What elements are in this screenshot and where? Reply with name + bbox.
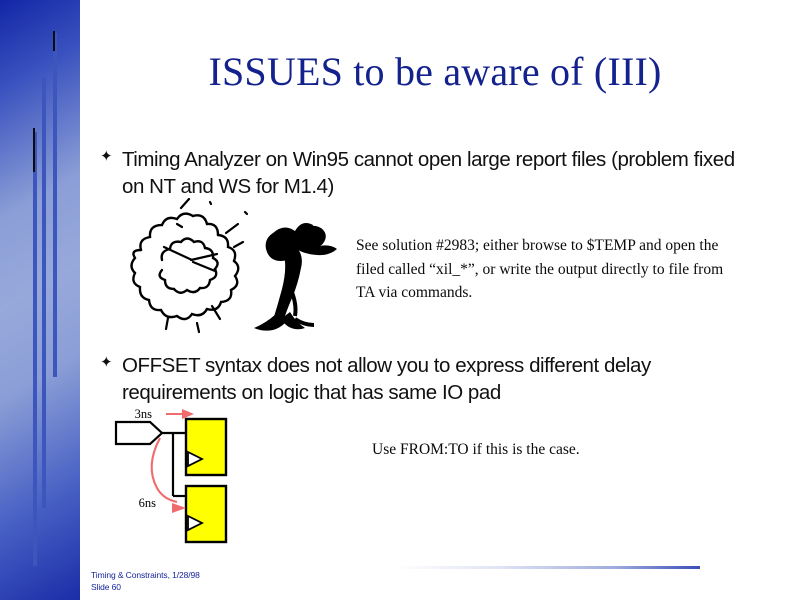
note-solution-2983: See solution #2983; either browse to $TE… (356, 234, 736, 305)
offset-delay-diagram: 3ns 6ns (110, 408, 310, 563)
net-wires (162, 433, 186, 496)
footer-line-2: Slide 60 (91, 581, 200, 593)
delay-label-6ns: 6ns (139, 496, 157, 510)
offset-delay-diagram-svg: 3ns 6ns (110, 408, 310, 563)
footer-text: Timing & Constraints, 1/28/98 Slide 60 (91, 569, 200, 593)
delay-label-3ns: 3ns (135, 408, 153, 421)
sidebar-tick-mark-top (53, 31, 55, 51)
sidebar-decoration (0, 0, 80, 600)
sidebar-vertical-line-1 (33, 132, 37, 566)
footer-line-1: Timing & Constraints, 1/28/98 (91, 569, 200, 581)
clipart-svg (105, 198, 355, 348)
bullet-item-2-text: OFFSET syntax does not allow you to expr… (122, 352, 740, 407)
diamond-bullet-icon: ✦ (100, 146, 122, 167)
explosion-puff-cloud (132, 214, 239, 319)
bottom-logic-block (186, 486, 226, 542)
footer-divider (395, 566, 700, 569)
person-silhouette-recoiling (254, 222, 337, 330)
sidebar-vertical-line-2 (42, 77, 46, 508)
bullet-item-1: ✦ Timing Analyzer on Win95 cannot open l… (100, 146, 740, 201)
bullet-item-1-text: Timing Analyzer on Win95 cannot open lar… (122, 146, 740, 201)
delay-arrowhead-6ns (172, 503, 186, 513)
diamond-bullet-icon: ✦ (100, 352, 122, 373)
delay-arrowhead-3ns (182, 409, 194, 419)
top-logic-block (186, 419, 226, 475)
presentation-slide: ISSUES to be aware of (III) ✦ Timing Ana… (0, 0, 800, 600)
slide-title: ISSUES to be aware of (III) (90, 48, 780, 95)
note-from-to: Use FROM:TO if this is the case. (372, 438, 702, 462)
sidebar-vertical-line-3 (53, 33, 57, 377)
io-pad-shape (116, 422, 162, 444)
clipart-explosion-and-figure (105, 198, 355, 348)
bullet-item-2: ✦ OFFSET syntax does not allow you to ex… (100, 352, 740, 407)
sidebar-tick-mark-middle (33, 128, 35, 172)
